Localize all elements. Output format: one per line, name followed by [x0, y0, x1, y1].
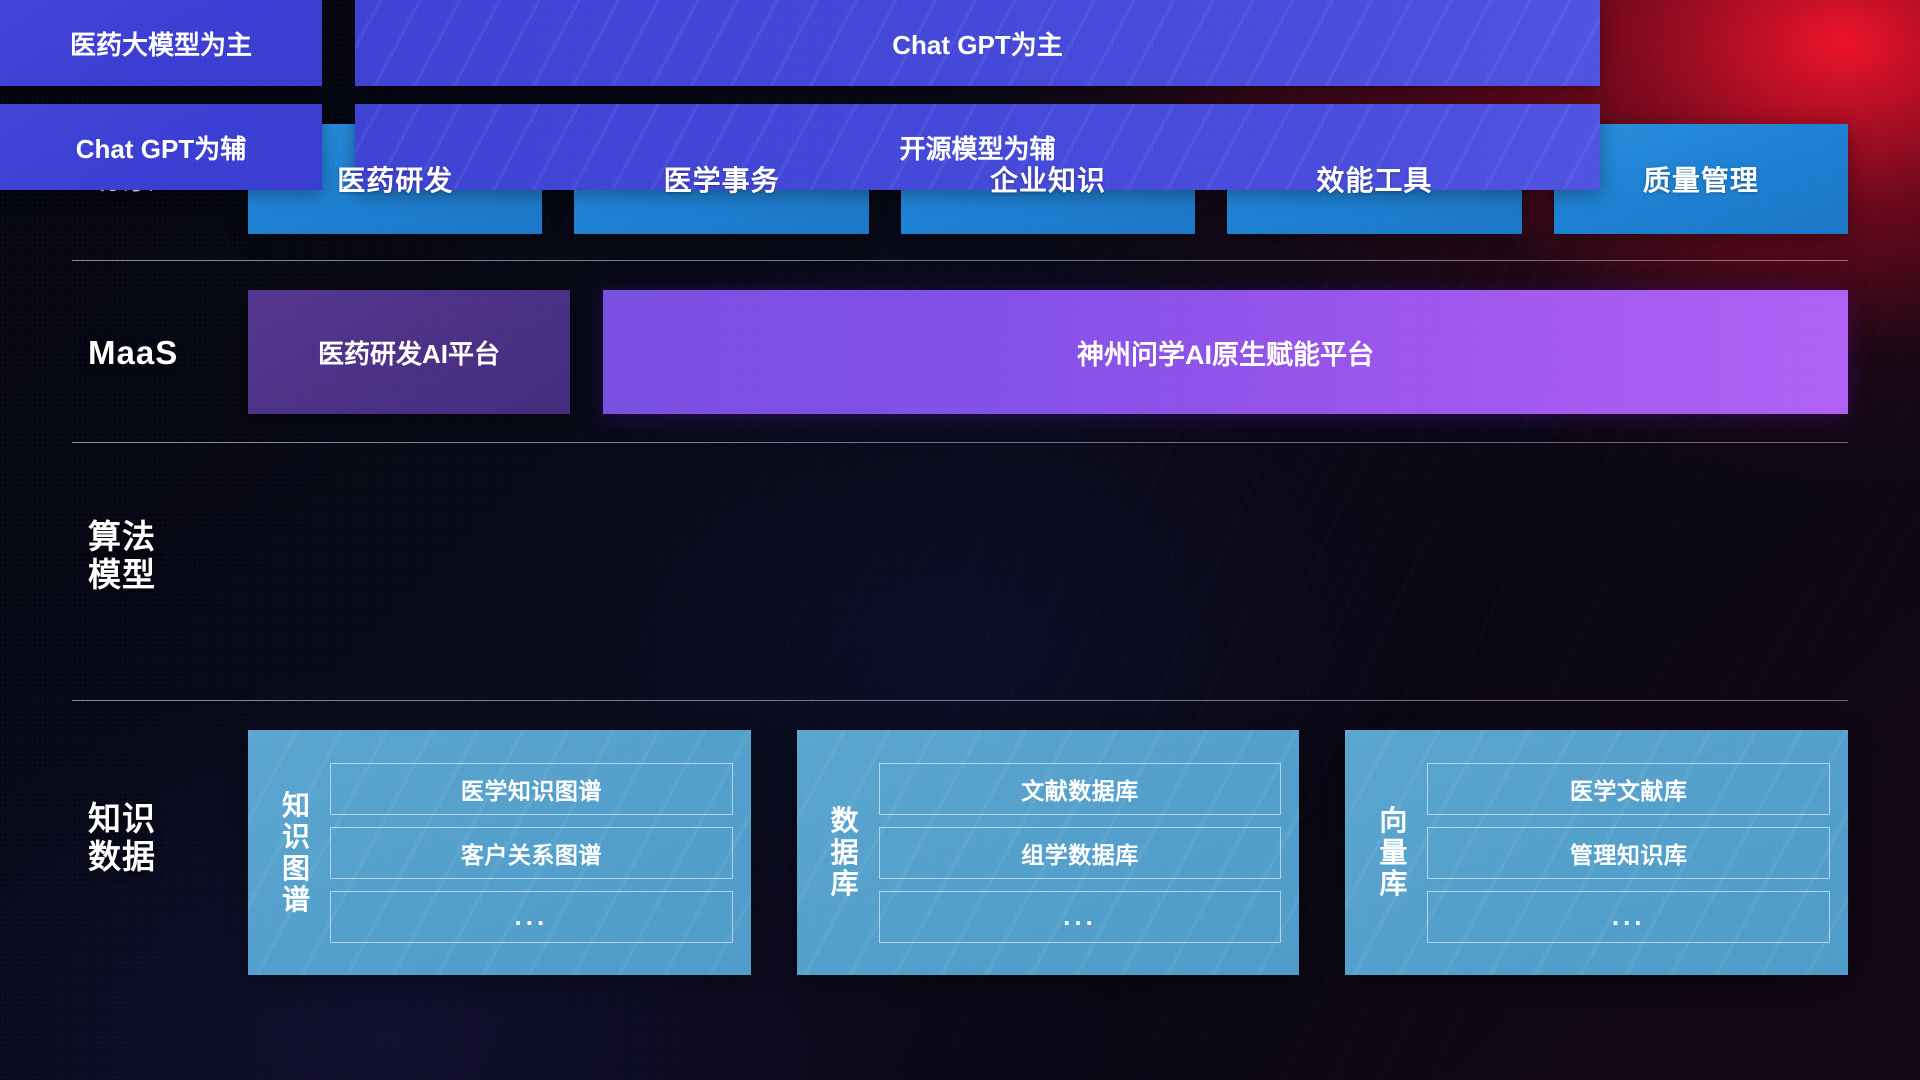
maas-platform-box-right[interactable]: 神州问学AI原生赋能平台 [603, 290, 1848, 414]
algorithm-label-secondary-right: 开源模型为辅 [899, 129, 1055, 166]
divider-after-maas [72, 442, 1848, 443]
knowledge-panel-title-2: 数 据 库 [811, 746, 879, 959]
row-label-algo-line-1: 算法 [88, 518, 208, 556]
knowledge-item-2-3[interactable]: ... [879, 891, 1282, 943]
knowledge-panel-title-2-char-3: 库 [831, 868, 859, 899]
maas-row: 医药研发AI平台 神州问学AI原生赋能平台 [248, 290, 1848, 414]
app-scenario-label-1: 医药研发 [337, 159, 453, 199]
slide-canvas: 应用 场景 医药研发 医学事务 企业知识 效能工具 质量管理 MaaS 医药研发… [0, 0, 1920, 1080]
knowledge-panel-items-3: 医学文献库 管理知识库 ... [1427, 746, 1830, 959]
knowledge-item-1-3[interactable]: ... [330, 891, 733, 943]
knowledge-item-3-2[interactable]: 管理知识库 [1427, 827, 1830, 879]
algorithm-label-secondary-left: Chat GPT为辅 [76, 129, 246, 166]
knowledge-panel-title-3-char-2: 量 [1379, 837, 1407, 868]
algorithm-models-subrow-1: 医药大模型为主 Chat GPT为主 [0, 0, 1600, 86]
knowledge-panel-title-2-char-1: 数 [831, 805, 859, 836]
knowledge-panel-title-1-char-2: 识 [282, 821, 310, 852]
algorithm-label-primary-right: Chat GPT为主 [892, 25, 1062, 62]
algorithm-box-primary-left[interactable]: 医药大模型为主 [0, 0, 322, 86]
knowledge-panel-title-1-char-4: 谱 [282, 884, 310, 915]
knowledge-item-3-1[interactable]: 医学文献库 [1427, 763, 1830, 815]
knowledge-panel-items-1: 医学知识图谱 客户关系图谱 ... [330, 746, 733, 959]
knowledge-panel-title-2-char-2: 据 [831, 837, 859, 868]
divider-after-algorithms [72, 700, 1848, 701]
divider-after-applications [72, 260, 1848, 261]
knowledge-item-2-2[interactable]: 组学数据库 [879, 827, 1282, 879]
row-label-knowledge-line-2: 数据 [88, 838, 208, 876]
knowledge-panel-title-1: 知 识 图 谱 [262, 746, 330, 959]
knowledge-panel-title-3-char-1: 向 [1379, 805, 1407, 836]
row-label-algo-line-2: 模型 [88, 556, 208, 594]
knowledge-panel-vector-store[interactable]: 向 量 库 医学文献库 管理知识库 ... [1345, 730, 1848, 975]
knowledge-item-1-2[interactable]: 客户关系图谱 [330, 827, 733, 879]
knowledge-panel-title-3-char-3: 库 [1379, 868, 1407, 899]
row-label-maas-text: MaaS [88, 334, 208, 372]
knowledge-panel-title-1-char-1: 知 [282, 790, 310, 821]
algorithm-label-primary-left: 医药大模型为主 [70, 25, 252, 62]
knowledge-data-row: 知 识 图 谱 医学知识图谱 客户关系图谱 ... 数 据 库 [248, 730, 1848, 975]
row-label-maas: MaaS [88, 334, 208, 372]
maas-platform-label-left: 医药研发AI平台 [318, 334, 500, 371]
knowledge-panel-database[interactable]: 数 据 库 文献数据库 组学数据库 ... [797, 730, 1300, 975]
algorithm-box-secondary-left[interactable]: Chat GPT为辅 [0, 104, 322, 190]
app-scenario-label-4: 效能工具 [1316, 159, 1432, 199]
knowledge-panel-knowledge-graph[interactable]: 知 识 图 谱 医学知识图谱 客户关系图谱 ... [248, 730, 751, 975]
knowledge-panel-title-3: 向 量 库 [1359, 746, 1427, 959]
app-scenario-label-5: 质量管理 [1643, 159, 1759, 199]
row-label-knowledge-line-1: 知识 [88, 800, 208, 838]
knowledge-panel-items-2: 文献数据库 组学数据库 ... [879, 746, 1282, 959]
maas-platform-label-right: 神州问学AI原生赋能平台 [1077, 333, 1374, 372]
app-scenario-label-2: 医学事务 [664, 159, 780, 199]
knowledge-item-1-1[interactable]: 医学知识图谱 [330, 763, 733, 815]
algorithm-box-primary-right[interactable]: Chat GPT为主 [355, 0, 1600, 86]
maas-platform-box-left[interactable]: 医药研发AI平台 [248, 290, 570, 414]
row-label-knowledge-data: 知识 数据 [88, 800, 208, 877]
row-label-algorithm-models: 算法 模型 [88, 518, 208, 595]
knowledge-item-3-3[interactable]: ... [1427, 891, 1830, 943]
knowledge-panel-title-1-char-3: 图 [282, 853, 310, 884]
knowledge-item-2-1[interactable]: 文献数据库 [879, 763, 1282, 815]
